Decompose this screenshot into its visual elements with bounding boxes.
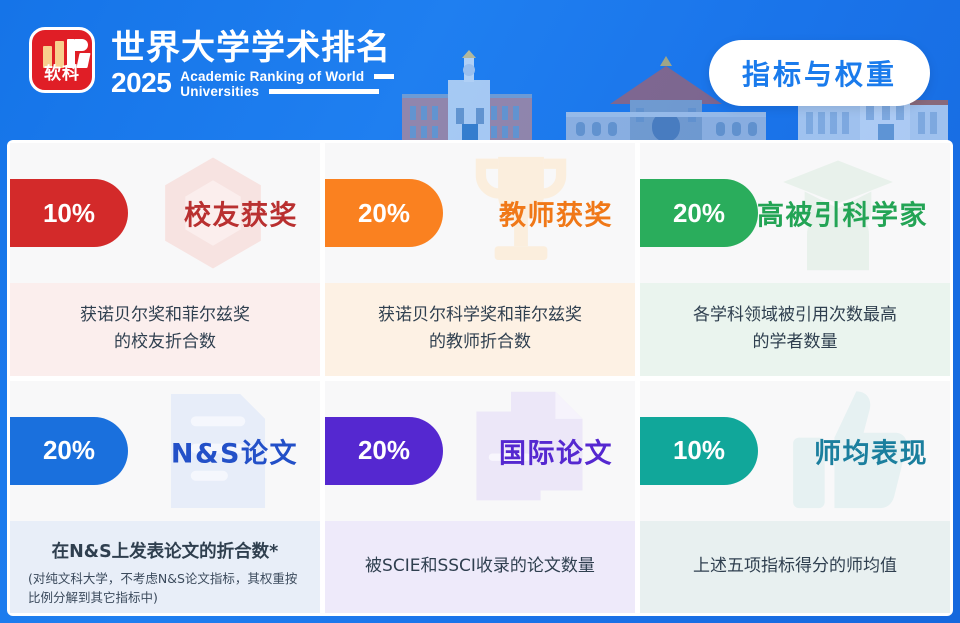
brand-lockup: 软科 世界大学学术排名 2025 Academic Ranking of Wor…: [29, 27, 394, 99]
card-header: 10% 校友获奖: [10, 143, 320, 283]
indicator-title: N&S论文: [171, 431, 298, 470]
indicator-title: 师均表现: [814, 431, 928, 470]
indicator-description: 获诺贝尔科学奖和菲尔兹奖 的教师折合数: [378, 302, 582, 356]
indicator-description: 获诺贝尔奖和菲尔兹奖 的校友折合数: [80, 302, 250, 356]
card-description: 获诺贝尔科学奖和菲尔兹奖 的教师折合数: [325, 283, 635, 376]
weight-value: 20%: [43, 435, 95, 466]
logo-text: 软科: [32, 59, 92, 84]
subtitle-en-line2: Universities: [180, 84, 259, 99]
page-title: 世界大学学术排名: [111, 29, 394, 67]
weight-value: 10%: [673, 435, 725, 466]
card-description: 上述五项指标得分的师均值: [640, 521, 950, 614]
indicator-description: 在N&S上发表论文的折合数*: [52, 539, 279, 566]
indicator-description: 各学科领域被引用次数最高 的学者数量: [693, 302, 897, 356]
card-description: 获诺贝尔奖和菲尔兹奖 的校友折合数: [10, 283, 320, 376]
card-header: 20% 教师获奖: [325, 143, 635, 283]
weight-badge: 10%: [10, 179, 128, 247]
section-badge: 指标与权重: [709, 40, 930, 106]
indicator-card-ns-papers[interactable]: 20% N&S论文 在N&S上发表论文的折合数* (对纯文科大学，不考虑N&S论…: [10, 381, 320, 614]
card-header: 20% N&S论文: [10, 381, 320, 521]
card-header: 20% 国际论文: [325, 381, 635, 521]
weight-value: 20%: [358, 435, 410, 466]
rule-short-decoration: [374, 74, 394, 79]
softscience-logo: 软科: [29, 27, 95, 93]
indicator-card-alumni-award[interactable]: 10% 校友获奖 获诺贝尔奖和菲尔兹奖 的校友折合数: [10, 143, 320, 376]
card-description: 在N&S上发表论文的折合数* (对纯文科大学，不考虑N&S论文指标，其权重按比例…: [10, 521, 320, 614]
indicator-card-faculty-award[interactable]: 20% 教师获奖 获诺贝尔科学奖和菲尔兹奖 的教师折合数: [325, 143, 635, 376]
indicator-card-per-capita-performance[interactable]: 10% 师均表现 上述五项指标得分的师均值: [640, 381, 950, 614]
card-header: 20% 高被引科学家: [640, 143, 950, 283]
indicator-card-highly-cited-researchers[interactable]: 20% 高被引科学家 各学科领域被引用次数最高 的学者数量: [640, 143, 950, 376]
card-description: 各学科领域被引用次数最高 的学者数量: [640, 283, 950, 376]
indicator-description: 被SCIE和SSCI收录的论文数量: [365, 553, 595, 580]
weight-value: 20%: [673, 198, 725, 229]
weight-value: 20%: [358, 198, 410, 229]
indicator-title: 校友获奖: [184, 194, 298, 233]
indicator-title: 高被引科学家: [757, 194, 928, 233]
weight-badge: 10%: [640, 417, 758, 485]
indicator-card-international-papers[interactable]: 20% 国际论文 被SCIE和SSCI收录的论文数量: [325, 381, 635, 614]
indicator-description: 上述五项指标得分的师均值: [693, 553, 897, 580]
weight-value: 10%: [43, 198, 95, 229]
card-header: 10% 师均表现: [640, 381, 950, 521]
rule-long-decoration: [269, 89, 379, 94]
weight-badge: 20%: [10, 417, 128, 485]
section-badge-label: 指标与权重: [742, 58, 897, 91]
card-description: 被SCIE和SSCI收录的论文数量: [325, 521, 635, 614]
subtitle-en-line1: Academic Ranking of World: [180, 69, 364, 84]
weight-badge: 20%: [325, 417, 443, 485]
indicator-footnote: (对纯文科大学，不考虑N&S论文指标，其权重按比例分解到其它指标中): [28, 569, 302, 607]
indicator-title: 教师获奖: [499, 194, 613, 233]
indicator-title: 国际论文: [499, 431, 613, 470]
edition-year: 2025: [111, 69, 171, 97]
indicators-panel: 10% 校友获奖 获诺贝尔奖和菲尔兹奖 的校友折合数 20% 教师获奖 获诺贝尔…: [7, 140, 953, 616]
weight-badge: 20%: [640, 179, 758, 247]
page-header: 软科 世界大学学术排名 2025 Academic Ranking of Wor…: [0, 0, 960, 142]
weight-badge: 20%: [325, 179, 443, 247]
